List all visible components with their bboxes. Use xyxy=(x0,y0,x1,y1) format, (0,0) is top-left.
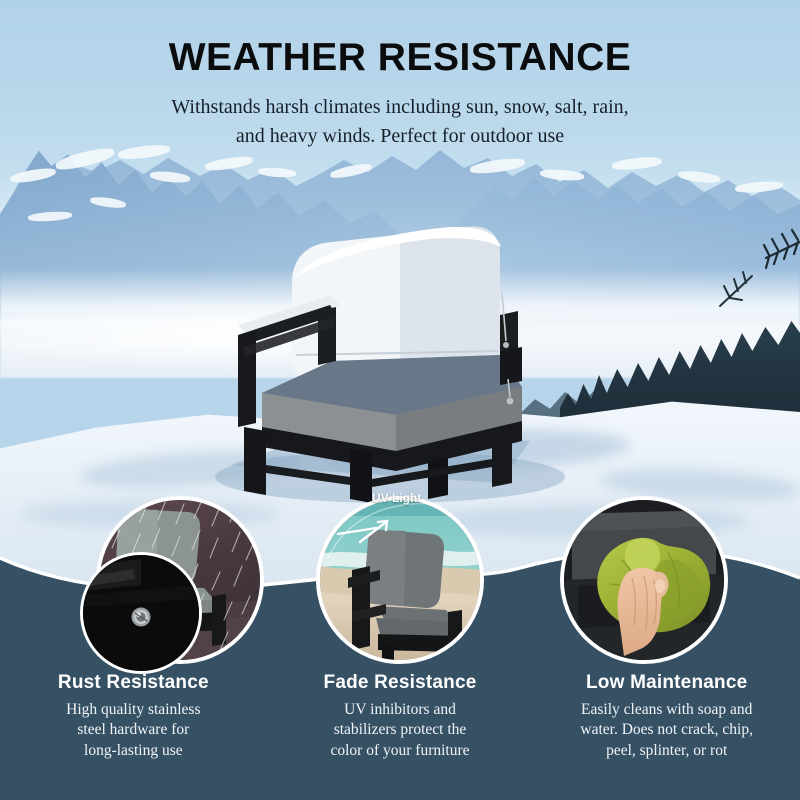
header: WEATHER RESISTANCE Withstands harsh clim… xyxy=(0,0,800,151)
feature-title: Rust Resistance xyxy=(14,672,253,694)
page-title: WEATHER RESISTANCE xyxy=(0,38,800,79)
feature-body: Easily cleans with soap and water. Does … xyxy=(547,700,786,761)
feature-body-line-2: steel hardware for xyxy=(14,720,253,740)
feature-body: UV inhibitors and stabilizers protect th… xyxy=(281,700,520,761)
feature-body-line-3: peel, splinter, or rot xyxy=(547,741,786,761)
feature-body-line-3: long-lasting use xyxy=(14,741,253,761)
feature-captions: Rust Resistance High quality stainless s… xyxy=(0,672,800,800)
feature-body: High quality stainless steel hardware fo… xyxy=(14,700,253,761)
uv-light-annotation: UV Light xyxy=(372,491,421,505)
feature-body-line-2: stabilizers protect the xyxy=(281,720,520,740)
feature-image-low-maintenance xyxy=(560,496,728,664)
feature-title: Fade Resistance xyxy=(281,672,520,694)
feature-body-line-1: High quality stainless xyxy=(14,700,253,720)
marketing-poster: WEATHER RESISTANCE Withstands harsh clim… xyxy=(0,0,800,800)
feature-inset-stainless-bolt xyxy=(80,552,202,674)
bolt-closeup xyxy=(83,555,199,671)
beach-chair-scene xyxy=(320,500,480,660)
subtitle-line-1: Withstands harsh climates including sun,… xyxy=(0,93,800,122)
feature-image-fade-resistance xyxy=(316,496,484,664)
feature-caption-low-maintenance: Low Maintenance Easily cleans with soap … xyxy=(533,672,800,800)
feature-caption-rust-resistance: Rust Resistance High quality stainless s… xyxy=(0,672,267,800)
wiping-cloth-scene xyxy=(564,500,724,660)
subtitle-line-2: and heavy winds. Perfect for outdoor use xyxy=(0,122,800,151)
hero-product-chair xyxy=(200,165,590,505)
feature-body-line-3: color of your furniture xyxy=(281,741,520,761)
pine-branch-icon xyxy=(700,228,800,308)
feature-title: Low Maintenance xyxy=(547,672,786,694)
feature-body-line-2: water. Does not crack, chip, xyxy=(547,720,786,740)
feature-caption-fade-resistance: Fade Resistance UV inhibitors and stabil… xyxy=(267,672,534,800)
feature-body-line-1: Easily cleans with soap and xyxy=(547,700,786,720)
page-subtitle: Withstands harsh climates including sun,… xyxy=(0,93,800,151)
feature-body-line-1: UV inhibitors and xyxy=(281,700,520,720)
